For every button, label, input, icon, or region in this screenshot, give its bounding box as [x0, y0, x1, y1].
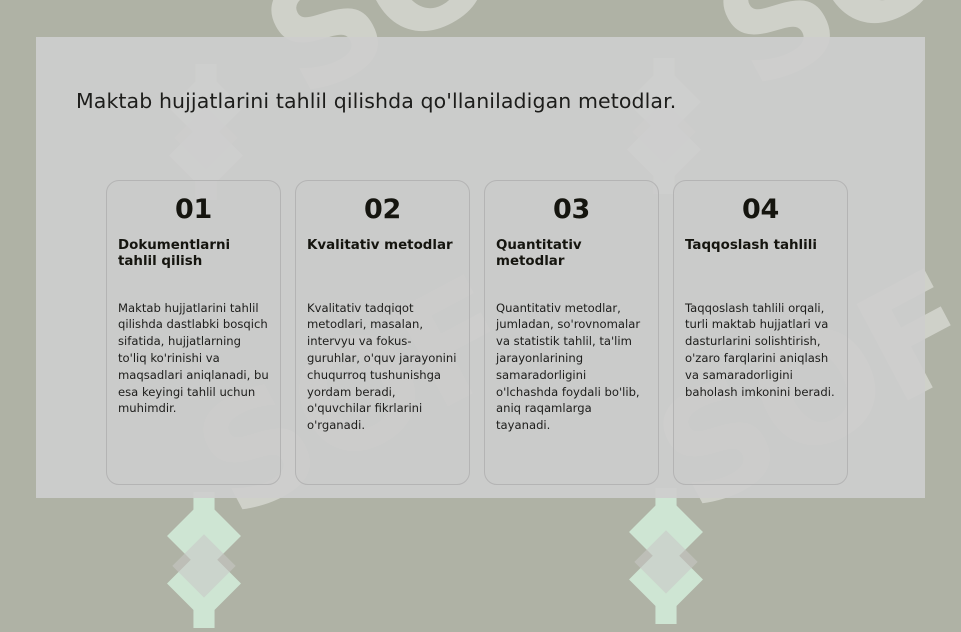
- card-heading: Kvalitativ metodlar: [307, 238, 458, 286]
- cards-row: 01 Dokumentlarni tahlil qilish Maktab hu…: [106, 180, 896, 485]
- method-card[interactable]: 04 Taqqoslash tahlili Taqqoslash tahlili…: [673, 180, 848, 485]
- card-body: Kvalitativ tadqiqot metodlari, masalan, …: [307, 300, 458, 434]
- method-card[interactable]: 01 Dokumentlarni tahlil qilish Maktab hu…: [106, 180, 281, 485]
- page-title: Maktab hujjatlarini tahlil qilishda qo'l…: [76, 89, 676, 113]
- card-number: 02: [307, 195, 458, 225]
- card-heading: Quantitativ metodlar: [496, 238, 647, 286]
- card-number: 04: [685, 195, 836, 225]
- card-heading: Dokumentlarni tahlil qilish: [118, 238, 269, 286]
- card-number: 03: [496, 195, 647, 225]
- method-card[interactable]: 02 Kvalitativ metodlar Kvalitativ tadqiq…: [295, 180, 470, 485]
- card-body: Quantitativ metodlar, jumladan, so'rovno…: [496, 300, 647, 434]
- watermark-logo-icon: [622, 488, 710, 624]
- card-heading: Taqqoslash tahlili: [685, 238, 836, 286]
- card-body: Maktab hujjatlarini tahlil qilishda dast…: [118, 300, 269, 418]
- card-number: 01: [118, 195, 269, 225]
- watermark-logo-icon: [160, 492, 248, 628]
- card-body: Taqqoslash tahlili orqali, turli maktab …: [685, 300, 836, 401]
- method-card[interactable]: 03 Quantitativ metodlar Quantitativ meto…: [484, 180, 659, 485]
- slide-panel: Maktab hujjatlarini tahlil qilishda qo'l…: [36, 37, 925, 498]
